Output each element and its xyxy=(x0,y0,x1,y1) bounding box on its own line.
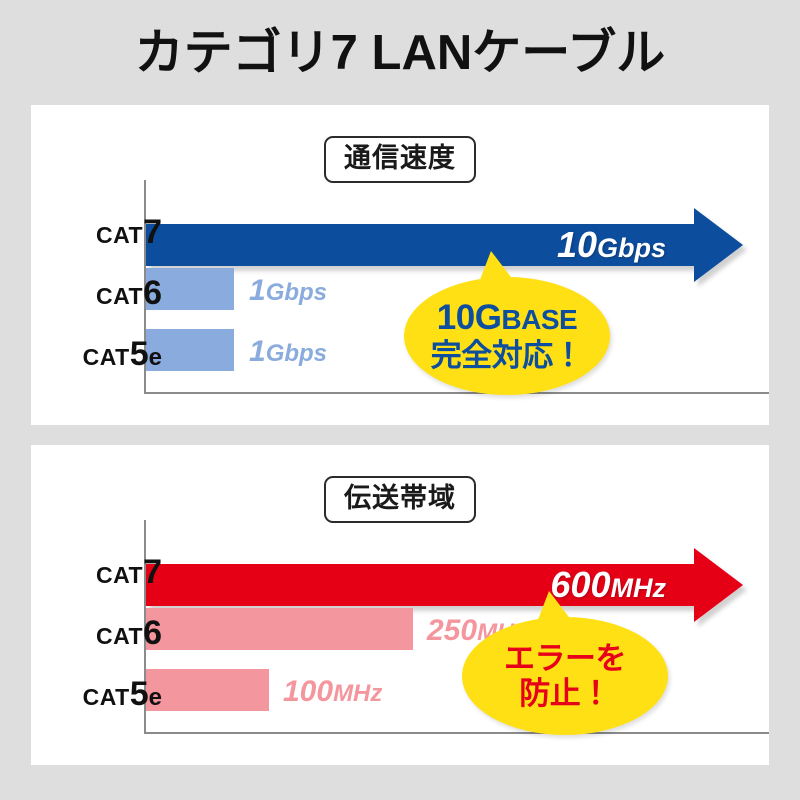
category-label-cat6-speed: CAT6 xyxy=(96,276,162,310)
bar-value-cat5e-speed: 1Gbps xyxy=(249,337,327,367)
bubble-tail-icon xyxy=(536,591,575,625)
callout-bubble-10gbase: 10GBASE 完全対応！ xyxy=(404,277,610,395)
chart-x-axis xyxy=(144,732,769,734)
category-label-cat6-band: CAT6 xyxy=(96,616,162,650)
bar-cat5e-band xyxy=(146,669,269,711)
chart-communication-speed: 10Gbps 1Gbps 1Gbps xyxy=(31,105,769,425)
panel-communication-speed: 通信速度 10Gbps 1Gbps 1Gbps xyxy=(31,105,769,425)
category-label-cat7-speed: CAT7 xyxy=(96,215,162,249)
bar-value-cat6-speed: 1Gbps xyxy=(249,276,327,306)
bubble-line-1-speed: 10GBASE xyxy=(437,299,577,337)
page-title: カテゴリ7 LANケーブル xyxy=(0,22,800,84)
bubble-line-2-band: 防止！ xyxy=(519,677,611,710)
bubble-tail-icon xyxy=(478,251,517,285)
bubble-line-1-band: エラーを xyxy=(504,642,626,675)
category-label-cat7-band: CAT7 xyxy=(96,555,162,589)
chart-x-axis xyxy=(144,392,769,394)
callout-bubble-error-prevention: エラーを 防止！ xyxy=(462,617,668,735)
panel-transmission-bandwidth: 伝送帯域 600MHz 250MHz 100MHz xyxy=(31,445,769,765)
bar-value-cat7-speed: 10Gbps xyxy=(557,227,666,263)
bar-cat6-band xyxy=(146,608,413,650)
bubble-line-2-speed: 完全対応！ xyxy=(431,339,584,372)
category-label-cat5e-speed: CAT5e xyxy=(83,337,162,371)
bar-cat7-speed: 10Gbps xyxy=(146,208,746,282)
chart-transmission-bandwidth: 600MHz 250MHz 100MHz xyxy=(31,445,769,765)
category-label-cat5e-band: CAT5e xyxy=(83,677,162,711)
bar-value-cat5e-band: 100MHz xyxy=(283,677,382,707)
